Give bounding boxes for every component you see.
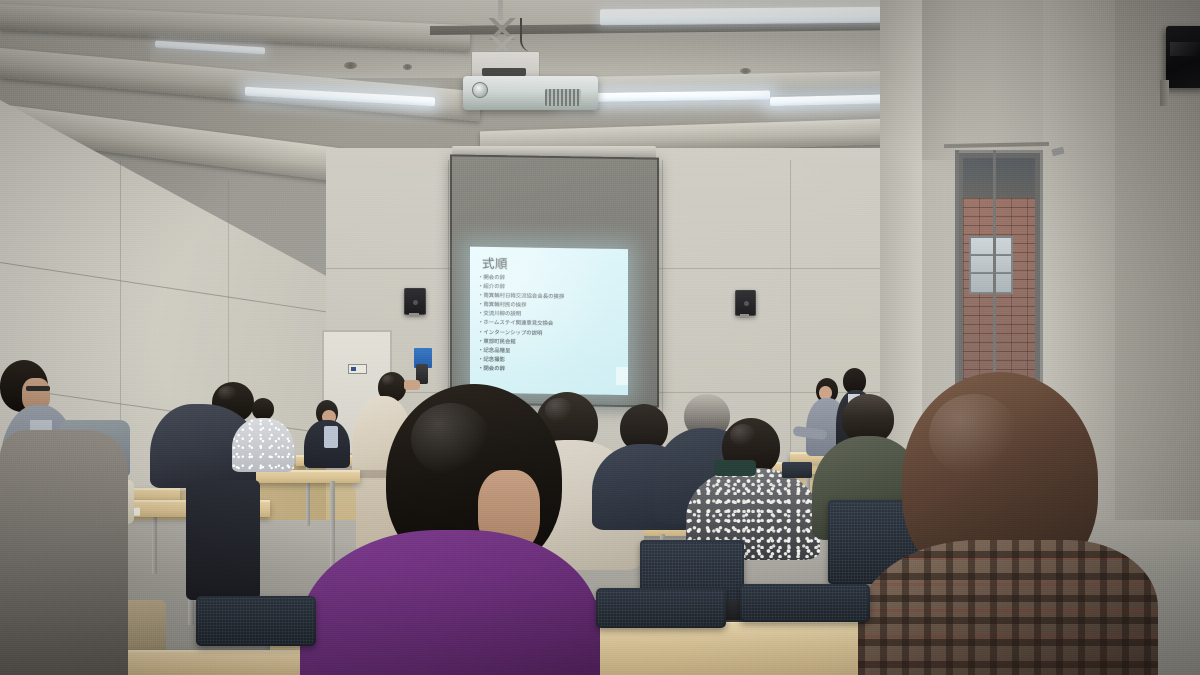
- foreground-draped-coat: [0, 430, 128, 675]
- ceiling-vent-2: [403, 64, 412, 70]
- projection-screen: 式順 開会の辞 紹介の辞 南箕輪村日韓交流協会会長の挨拶 南箕輪村民の挨拶 交流…: [450, 154, 659, 407]
- back-wall-seam-v3: [790, 160, 791, 470]
- desk-leg: [330, 481, 335, 569]
- projector-lens: [472, 82, 488, 98]
- collar: [714, 460, 756, 476]
- chair-foreground-1: [596, 588, 726, 628]
- projector-cable: [520, 18, 536, 52]
- hair-highlight: [218, 386, 237, 401]
- projector-vent: [545, 89, 581, 106]
- left-wall-seam-v1: [120, 160, 121, 460]
- right-wall-panel-3: [922, 0, 956, 160]
- shirt: [324, 426, 338, 448]
- right-speaker-bracket: [740, 314, 749, 318]
- projected-slide: 式順 開会の辞 紹介の辞 南箕輪村日韓交流協会会長の挨拶 南箕輪村民の挨拶 交流…: [470, 247, 628, 395]
- window-mullion-left: [955, 150, 959, 402]
- legs: [186, 480, 260, 600]
- exterior-window-bar-2: [969, 272, 1013, 274]
- left-wall-speaker: [404, 288, 426, 315]
- hand: [404, 380, 420, 390]
- head: [252, 398, 274, 420]
- hair-highlight: [545, 398, 573, 422]
- hair-highlight: [730, 424, 756, 446]
- hair-highlight: [929, 394, 1017, 476]
- chair-foreground-2: [740, 584, 870, 622]
- laptop: [782, 462, 812, 478]
- window-glass: [963, 158, 1035, 394]
- slide-bullet-list: 開会の辞 紹介の辞 南箕輪村日韓交流協会会長の挨拶 南箕輪村民の挨拶 交流川柳の…: [478, 274, 624, 376]
- wall-monitor: [1166, 26, 1200, 88]
- slide-bullet: 閉会の辞: [478, 365, 624, 376]
- monitor-screen-reflection: [1170, 42, 1200, 56]
- chair-mesh: [198, 598, 314, 644]
- projector-top-cable: [482, 68, 526, 76]
- lecture-room-photo: 式順 開会の辞 紹介の辞 南箕輪村日韓交流協会会長の挨拶 南箕輪村民の挨拶 交流…: [0, 0, 1200, 675]
- monitor-mount-arm: [1160, 80, 1169, 106]
- torso: [858, 540, 1158, 675]
- right-wall-speaker: [735, 290, 756, 316]
- left-speaker-bracket: [409, 313, 419, 317]
- glasses: [26, 386, 50, 391]
- chair-foreground-3: [196, 596, 316, 646]
- ceiling-vent-3: [740, 68, 751, 74]
- slide-title: 式順: [482, 253, 508, 272]
- hair-highlight: [411, 403, 490, 475]
- slide-corner-highlight: [616, 367, 628, 385]
- window: [955, 150, 1043, 402]
- torso: [232, 418, 294, 472]
- window-mullion-mid: [993, 150, 996, 402]
- ceiling-light-4: [600, 7, 890, 26]
- door-sign: [348, 364, 367, 374]
- ceiling-vent-1: [344, 62, 357, 69]
- exterior-window-bar-1: [969, 254, 1013, 256]
- chair-mesh: [742, 586, 868, 620]
- projector-mount-arm: [498, 0, 503, 20]
- exterior-window: [969, 236, 1013, 294]
- chair-mesh: [598, 590, 724, 626]
- hair-highlight: [382, 375, 395, 386]
